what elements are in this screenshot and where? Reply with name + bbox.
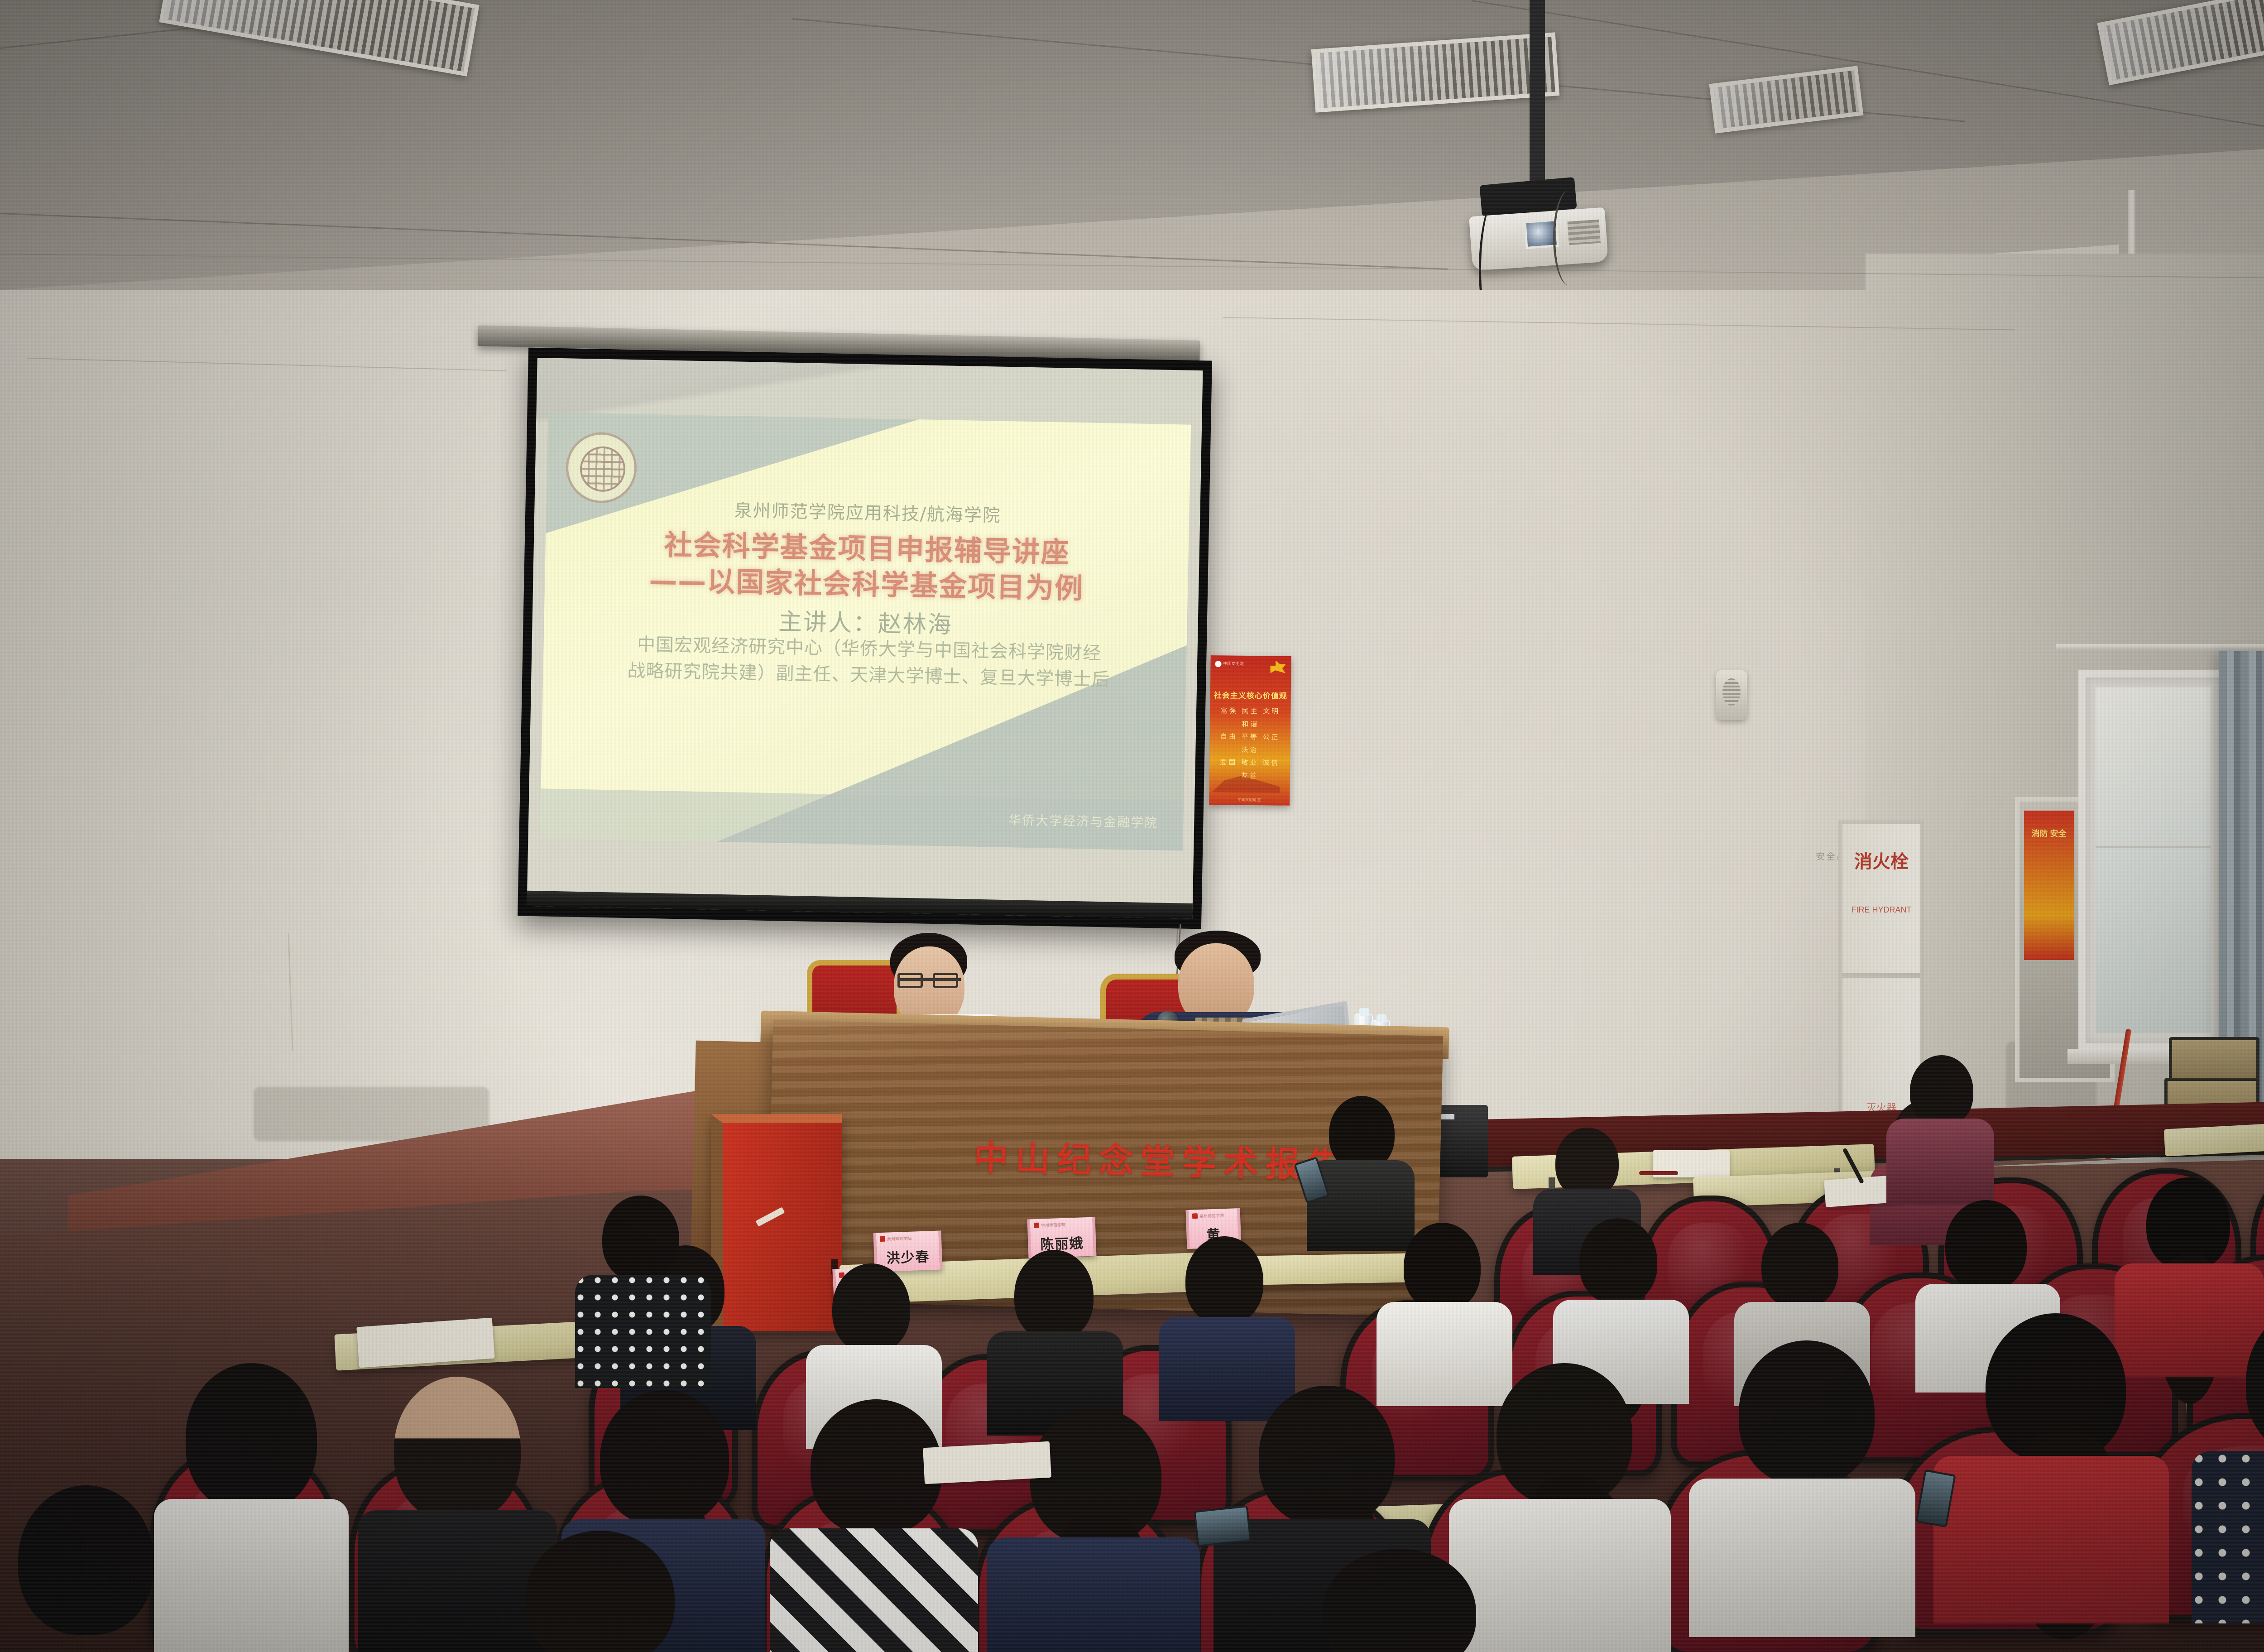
audience-head: [1322, 1549, 1476, 1652]
audience-head: [525, 1531, 675, 1652]
poster-title: 社会主义核心价值观: [1210, 689, 1291, 701]
slide-title: 社会科学基金项目申报辅导讲座 ——以国家社会科学基金项目为例: [545, 524, 1189, 609]
poster-values-row-1: 富强 民主 文明 和谐: [1214, 704, 1286, 731]
smartphone[interactable]: [1194, 1505, 1252, 1547]
host-speaker-glasses-lens-right: [933, 973, 958, 988]
projection-screen-frame: 泉州师范学院应用科技/航海学院 社会科学基金项目申报辅导讲座 ——以国家社会科学…: [518, 348, 1212, 929]
audience-head: [811, 1399, 942, 1535]
audience-torso: [987, 1537, 1200, 1652]
audience-member: [0, 1485, 190, 1652]
audience-member: [1304, 1096, 1417, 1241]
placard-logo-icon: [1034, 1223, 1039, 1228]
audience-head: [1761, 1223, 1838, 1309]
cabinet-handle[interactable]: [756, 1207, 785, 1226]
audience-head: [186, 1363, 317, 1513]
audience-member: [2192, 1304, 2264, 1621]
audience-member: [1689, 1340, 1915, 1630]
curtain-rod: [2056, 644, 2264, 651]
photograph-scene: 安全出口 泉州师范学院应用科技/航海学院 社会科学基金项目申报辅导讲座 ——以国…: [0, 0, 2264, 1652]
audience-member: [987, 1250, 1123, 1422]
window-glass: [2096, 687, 2211, 1033]
slide-credentials: 中国宏观经济研究中心（华侨大学与中国社会科学院财经 战略研究院共建）副主任、天津…: [565, 630, 1173, 694]
audience-member: [1159, 1236, 1295, 1408]
host-speaker-glasses-lens-left: [897, 973, 923, 988]
fire-hose-cabinet-sublabel: FIRE HYDRANT: [1842, 905, 1920, 915]
poster-values-row-2: 自由 平等 公正 法治: [1214, 730, 1286, 757]
paper-on-desk: [923, 1441, 1051, 1484]
socialist-core-values-poster: 中国文明网 社会主义核心价值观 富强 民主 文明 和谐 自由 平等 公正 法治 …: [1209, 655, 1291, 806]
audience-torso: [575, 1275, 711, 1388]
placard-org: 泉州师范学院: [887, 1235, 911, 1242]
fire-hose-cabinet-divider: [1842, 973, 1920, 978]
audience-head: [1945, 1200, 2027, 1291]
civilization-net-logo-icon: [1215, 661, 1221, 667]
poster-values-rows: 富强 民主 文明 和谐 自由 平等 公正 法治 爱国 敬业 诚信 友善: [1214, 704, 1286, 783]
audience-torso: [1689, 1479, 1915, 1637]
audience-member: [498, 1531, 711, 1652]
audience-head: [602, 1196, 679, 1282]
window-frame: [2078, 670, 2228, 1051]
audience-member: [1933, 1313, 2169, 1621]
audience-head: [1404, 1223, 1481, 1311]
audience-head: [1185, 1236, 1263, 1325]
audience-member: [1295, 1549, 1508, 1652]
slide-organization-line: 泉州师范学院应用科技/航海学院: [546, 493, 1190, 530]
audience-torso: [2192, 1451, 2264, 1623]
placard-org: 泉州师范学院: [1199, 1212, 1224, 1219]
placard-org: 泉州师范学院: [1041, 1222, 1065, 1229]
fire-hose-cabinet-label: 消火栓: [1842, 851, 1920, 873]
slide-footer-text: 华侨大学经济与金融学院: [1008, 810, 1158, 831]
poster-brand-text: 中国文明网: [1223, 660, 1243, 666]
audience-head: [1739, 1340, 1875, 1485]
wall-mounted-speaker: [1716, 670, 1747, 720]
poster-footer-text: 中国文明网·宣: [1209, 797, 1290, 803]
placard-logo-icon: [880, 1236, 885, 1242]
audience-member: [770, 1399, 978, 1652]
wall-notice-poster: 消防 安全: [2024, 811, 2074, 960]
audience-head: [18, 1485, 154, 1635]
audience-member: [1884, 1055, 1997, 1191]
placard-logo-icon: [1192, 1213, 1198, 1219]
audience-member: [575, 1196, 711, 1377]
audience-torso: [770, 1528, 978, 1652]
audience-torso: [1886, 1119, 1994, 1205]
audience-head: [1329, 1096, 1395, 1171]
audience-head: [394, 1377, 521, 1522]
projection-screen-surface: 泉州师范学院应用科技/航海学院 社会科学基金项目申报辅导讲座 ——以国家社会科学…: [527, 358, 1203, 919]
audience-torso: [1933, 1456, 2169, 1623]
audience-head: [1555, 1128, 1619, 1198]
audience-head: [1910, 1055, 1973, 1127]
projector-mount-pole: [1530, 0, 1545, 190]
presentation-slide: 泉州师范学院应用科技/航海学院 社会科学基金项目申报辅导讲座 ——以国家社会科学…: [540, 412, 1191, 850]
pen-on-desk: [1639, 1171, 1678, 1175]
audience-head: [2246, 1304, 2264, 1458]
party-emblem-icon: [1270, 660, 1285, 673]
wall-notice-poster-text: 消防 安全: [2024, 829, 2074, 839]
audience-head: [832, 1263, 910, 1353]
audience-head: [1014, 1250, 1094, 1340]
globe-grid-icon: [580, 446, 626, 492]
projection-screen-bottom-bar: [527, 891, 1193, 919]
